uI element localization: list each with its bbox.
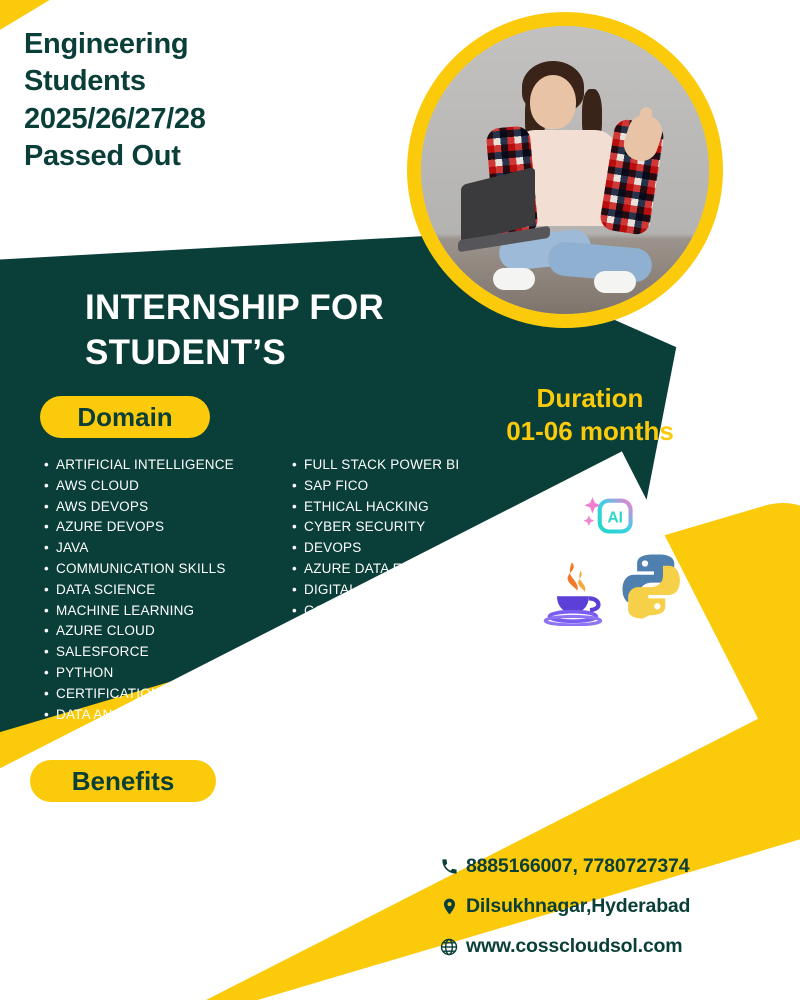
benefit-list-item: •Certificates bbox=[30, 876, 290, 898]
contact-website-text[interactable]: www.cosscloudsol.com bbox=[466, 935, 682, 958]
bullet-icon: • bbox=[292, 476, 304, 497]
bullet-icon: • bbox=[30, 876, 44, 898]
bullet-icon: • bbox=[30, 810, 44, 832]
headline-line-4: Passed Out bbox=[24, 138, 324, 175]
benefit-list-item: •Hands On Projects bbox=[30, 832, 290, 854]
domain-list-item-label: CYBER SECURITY bbox=[304, 517, 542, 538]
internship-poster: Engineering Students 2025/26/27/28 Passe… bbox=[0, 0, 800, 1000]
bullet-icon: • bbox=[44, 580, 56, 601]
student-photo-ring bbox=[407, 12, 723, 328]
bullet-icon: • bbox=[44, 497, 56, 518]
domain-list-item: •DATA SCIENCE bbox=[44, 580, 294, 601]
domain-list-item-label: AWS CLOUD bbox=[56, 476, 294, 497]
benefits-heading-label: Benefits bbox=[72, 766, 175, 797]
domain-list-item: •SPOKEN ENGLISH bbox=[292, 725, 542, 746]
bullet-icon: • bbox=[44, 476, 56, 497]
benefit-list-item-label: Certificates bbox=[44, 876, 117, 898]
bullet-icon: • bbox=[44, 684, 56, 705]
duration-label: Duration bbox=[440, 382, 740, 415]
headline-line-1: Engineering bbox=[24, 26, 324, 63]
domain-list-item: •AZURE DATA ENGINEER bbox=[292, 559, 542, 580]
page-title-line-1: INTERNSHIP FOR bbox=[85, 286, 505, 331]
domain-list-column-1: •ARTIFICIAL INTELLIGENCE•AWS CLOUD•AWS D… bbox=[44, 455, 294, 725]
bullet-icon: • bbox=[44, 663, 56, 684]
domain-list-item: •CYBER SECURITY bbox=[292, 517, 542, 538]
ai-logo-icon: AI bbox=[578, 488, 636, 546]
benefit-list-item-label: Placement Support bbox=[44, 854, 167, 876]
student-photo bbox=[421, 26, 709, 314]
svg-text:AI: AI bbox=[607, 509, 622, 526]
domain-list-item: •FULL STACK POWER BI bbox=[292, 455, 542, 476]
contact-address-row: Dilsukhnagar,Hyderabad bbox=[432, 895, 792, 918]
globe-icon bbox=[432, 937, 466, 957]
bullet-icon: • bbox=[292, 621, 304, 642]
headline: Engineering Students 2025/26/27/28 Passe… bbox=[24, 26, 324, 176]
benefits-list: •Technical Training•Hands On Projects•Pl… bbox=[30, 810, 290, 898]
headline-line-2: Students bbox=[24, 63, 324, 100]
domain-list-item-label: MS OFFICE bbox=[304, 621, 542, 642]
domain-list-item-label: AZURE DEVOPS bbox=[56, 517, 294, 538]
benefit-list-item-label: Hands On Projects bbox=[44, 832, 166, 854]
domain-list-item-label: DIGITAL MARKETING bbox=[304, 580, 542, 601]
domain-list-item-label: SAP FICO bbox=[304, 476, 542, 497]
bullet-icon: • bbox=[30, 854, 44, 876]
bullet-icon: • bbox=[44, 705, 56, 726]
domain-list-item-label: SPOKEN ENGLISH bbox=[304, 725, 542, 746]
bullet-icon: • bbox=[292, 705, 304, 726]
domain-list-item-label: AZURE CLOUD bbox=[56, 621, 294, 642]
bullet-icon: • bbox=[44, 601, 56, 622]
benefit-list-item: •Technical Training bbox=[30, 810, 290, 832]
domain-list-item: •JAVA bbox=[44, 538, 294, 559]
domain-list-item: •SQL / MYSQL / POSTGRESQL bbox=[292, 663, 542, 684]
domain-list-item: •ARTIFICIAL INTELLIGENCE bbox=[44, 455, 294, 476]
bullet-icon: • bbox=[292, 663, 304, 684]
contact-website-row: www.cosscloudsol.com bbox=[432, 935, 792, 958]
technology-logos: AI bbox=[540, 488, 710, 638]
bullet-icon: • bbox=[292, 684, 304, 705]
domain-list-item: •AZURE CLOUD bbox=[44, 621, 294, 642]
domain-list-item: •DIGITAL MARKETING bbox=[292, 580, 542, 601]
domain-list-item: •LINUX bbox=[292, 705, 542, 726]
domain-list-item: •GOOGLE CLOUD bbox=[292, 601, 542, 622]
bullet-icon: • bbox=[44, 538, 56, 559]
contact-block: 8885166007, 7780727374 Dilsukhnagar,Hyde… bbox=[432, 855, 792, 975]
bullet-icon: • bbox=[44, 517, 56, 538]
domain-list-item-label: SALESFORCE bbox=[56, 642, 294, 663]
domain-list-item: •DATA ANALYTICS bbox=[44, 705, 294, 726]
page-title: INTERNSHIP FOR STUDENT’S bbox=[85, 286, 505, 376]
duration-block: Duration 01-06 months bbox=[440, 382, 740, 449]
bullet-icon: • bbox=[44, 455, 56, 476]
domain-list-item: •MS OFFICE bbox=[292, 621, 542, 642]
bullet-icon: • bbox=[44, 559, 56, 580]
domain-list-item-label: PYTHON bbox=[56, 663, 294, 684]
domain-list-item: •PYTHON bbox=[44, 663, 294, 684]
domain-heading-label: Domain bbox=[77, 402, 172, 433]
domain-list-item-label: ARTIFICIAL INTELLIGENCE bbox=[56, 455, 294, 476]
java-logo-icon bbox=[540, 558, 608, 626]
domain-list-item: •CERTIFICATION bbox=[44, 684, 294, 705]
bullet-icon: • bbox=[292, 725, 304, 746]
headline-line-3: 2025/26/27/28 bbox=[24, 101, 324, 138]
bullet-icon: • bbox=[44, 642, 56, 663]
page-title-line-2: STUDENT’S bbox=[85, 331, 505, 376]
domain-list-item-label: DEVOPS bbox=[304, 538, 542, 559]
domain-list-item: •CLOUD COMPUTING bbox=[292, 642, 542, 663]
domain-list-item-label: GOOGLE CLOUD bbox=[304, 601, 542, 622]
domain-list-item-label: COMMUNICATION SKILLS bbox=[56, 559, 294, 580]
domain-list-item-label: ETHICAL HACKING bbox=[304, 497, 542, 518]
domain-list-item-label: DATA ANALYTICS bbox=[56, 705, 294, 726]
bullet-icon: • bbox=[292, 497, 304, 518]
domain-list-item: •ETHICAL HACKING bbox=[292, 497, 542, 518]
phone-icon bbox=[432, 857, 466, 876]
domain-list-item: •COMMUNICATION SKILLS bbox=[44, 559, 294, 580]
bullet-icon: • bbox=[30, 832, 44, 854]
domain-list-item: •AZURE DEVOPS bbox=[44, 517, 294, 538]
duration-value: 01-06 months bbox=[440, 415, 740, 448]
domain-list-item-label: LINUX bbox=[304, 705, 542, 726]
domain-list-item-label: AWS DEVOPS bbox=[56, 497, 294, 518]
domain-list-item-label: TALLY bbox=[304, 684, 542, 705]
domain-heading-pill: Domain bbox=[40, 396, 210, 438]
domain-list-item: •TALLY bbox=[292, 684, 542, 705]
location-pin-icon bbox=[432, 897, 466, 916]
benefits-heading-pill: Benefits bbox=[30, 760, 216, 802]
domain-list-item: •SAP FICO bbox=[292, 476, 542, 497]
bullet-icon: • bbox=[292, 601, 304, 622]
domain-list-item: •SALESFORCE bbox=[44, 642, 294, 663]
domain-list-column-2: •FULL STACK POWER BI•SAP FICO•ETHICAL HA… bbox=[292, 455, 542, 746]
bullet-icon: • bbox=[292, 517, 304, 538]
domain-list-item: •DEVOPS bbox=[292, 538, 542, 559]
python-logo-icon bbox=[618, 550, 690, 622]
contact-address-text: Dilsukhnagar,Hyderabad bbox=[466, 895, 690, 918]
bullet-icon: • bbox=[292, 559, 304, 580]
domain-list-item-label: AZURE DATA ENGINEER bbox=[304, 559, 542, 580]
domain-list-item: •MACHINE LEARNING bbox=[44, 601, 294, 622]
domain-list-item: •AWS CLOUD bbox=[44, 476, 294, 497]
bullet-icon: • bbox=[292, 455, 304, 476]
bullet-icon: • bbox=[292, 642, 304, 663]
bullet-icon: • bbox=[44, 621, 56, 642]
domain-list-item-label: CLOUD COMPUTING bbox=[304, 642, 542, 663]
benefit-list-item: •Placement Support bbox=[30, 854, 290, 876]
domain-list-item-label: CERTIFICATION bbox=[56, 684, 294, 705]
contact-phone-row: 8885166007, 7780727374 bbox=[432, 855, 792, 878]
domain-list-item-label: SQL / MYSQL / POSTGRESQL bbox=[304, 663, 542, 684]
domain-list-item-label: FULL STACK POWER BI bbox=[304, 455, 542, 476]
benefit-list-item-label: Technical Training bbox=[44, 810, 160, 832]
bullet-icon: • bbox=[292, 580, 304, 601]
domain-list-item-label: DATA SCIENCE bbox=[56, 580, 294, 601]
domain-list-item: •AWS DEVOPS bbox=[44, 497, 294, 518]
contact-phone-text[interactable]: 8885166007, 7780727374 bbox=[466, 855, 689, 878]
domain-list-item-label: MACHINE LEARNING bbox=[56, 601, 294, 622]
domain-list-item-label: JAVA bbox=[56, 538, 294, 559]
bullet-icon: • bbox=[292, 538, 304, 559]
